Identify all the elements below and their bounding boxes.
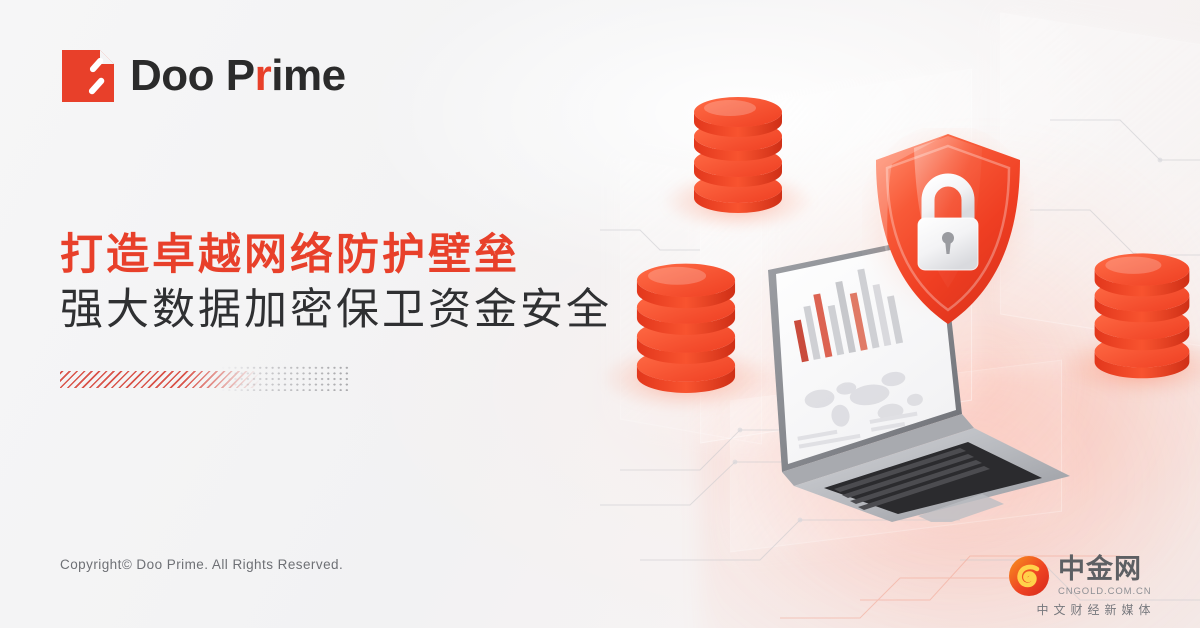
watermark-title: 中金网 (1058, 556, 1152, 583)
cngold-watermark: 中金网 CNGOLD.COM.CN 中文财经新媒体 (1008, 555, 1184, 618)
doo-prime-logo-mark (62, 50, 114, 102)
watermark-url: CNGOLD.COM.CN (1058, 586, 1152, 597)
brand-lockup: Doo Prime (62, 50, 346, 102)
copyright-text: Copyright© Doo Prime. All Rights Reserve… (60, 557, 343, 572)
headline-block: 打造卓越网络防护壁垒 强大数据加密保卫资金安全 (60, 228, 612, 338)
promotional-banner: Doo Prime 打造卓越网络防护壁垒 强大数据加密保卫资金安全 Copyri… (0, 0, 1200, 628)
brand-name-accent: r (255, 51, 272, 100)
watermark-text-column: 中金网 CNGOLD.COM.CN (1058, 556, 1152, 597)
decorative-rule (60, 365, 350, 391)
brand-name-part3: ime (271, 51, 345, 100)
watermark-top-row: 中金网 CNGOLD.COM.CN (1008, 555, 1184, 597)
headline-line-1: 打造卓越网络防护壁垒 (60, 228, 612, 283)
brand-name: Doo Prime (130, 54, 346, 98)
cngold-swirl-logo (1008, 555, 1050, 597)
headline-line-2: 强大数据加密保卫资金安全 (60, 283, 612, 338)
watermark-tagline: 中文财经新媒体 (1008, 601, 1184, 618)
brand-name-part1: Doo P (130, 51, 255, 100)
dot-grid-band (220, 365, 350, 391)
